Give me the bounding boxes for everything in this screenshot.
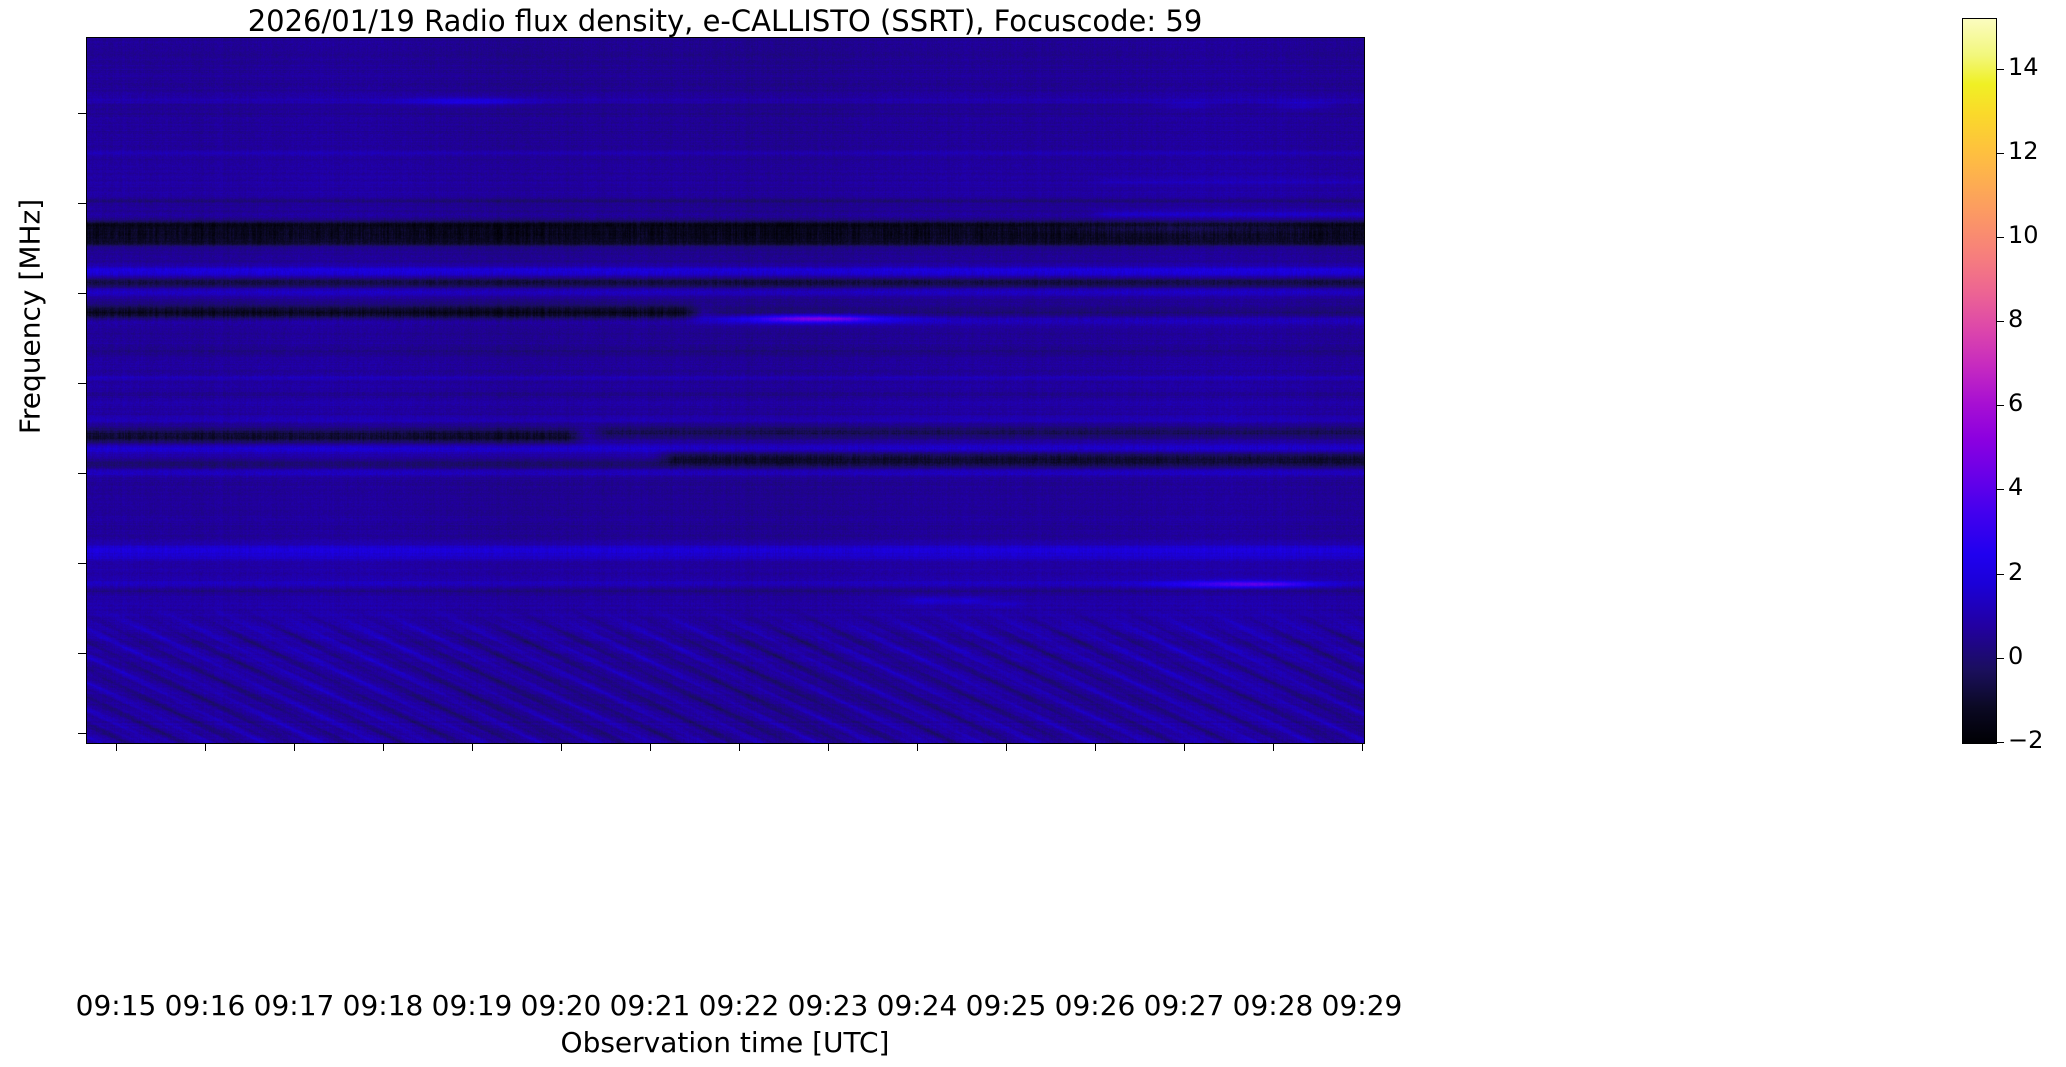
colorbar-tick-label: 6 xyxy=(2008,389,2023,417)
colorbar-tick-label: 14 xyxy=(2008,53,2039,81)
colorbar-tick-label: 4 xyxy=(2008,473,2023,501)
page-title: 2026/01/19 Radio flux density, e-CALLIST… xyxy=(86,4,1364,38)
x-tick-mark xyxy=(650,743,651,751)
x-tick-mark xyxy=(383,743,384,751)
colorbar-tick-mark xyxy=(1996,489,2004,490)
colorbar-tick-mark xyxy=(1996,321,2004,322)
colorbar-tick-label: −2 xyxy=(2008,726,2043,754)
spectrogram-axes[interactable] xyxy=(86,37,1365,744)
y-tick-mark xyxy=(78,653,86,654)
colorbar-tick-mark xyxy=(1996,153,2004,154)
colorbar-tick-mark xyxy=(1996,658,2004,659)
x-tick-mark xyxy=(739,743,740,751)
x-tick-mark xyxy=(472,743,473,751)
colorbar-tick-label: 12 xyxy=(2008,137,2039,165)
x-tick-mark xyxy=(1006,743,1007,751)
colorbar-tick-mark xyxy=(1996,742,2004,743)
x-tick-label: 09:29 xyxy=(1292,989,1432,1022)
colorbar-tick-label: 8 xyxy=(2008,305,2023,333)
colorbar-tick-label: 10 xyxy=(2008,221,2039,249)
y-tick-mark xyxy=(78,203,86,204)
x-tick-mark xyxy=(294,743,295,751)
x-tick-mark xyxy=(561,743,562,751)
spectrogram-image xyxy=(87,38,1364,743)
x-tick-mark xyxy=(828,743,829,751)
x-tick-mark xyxy=(1362,743,1363,751)
x-tick-mark xyxy=(1273,743,1274,751)
y-tick-mark xyxy=(78,733,86,734)
x-tick-mark xyxy=(1184,743,1185,751)
figure-canvas: 2026/01/19 Radio flux density, e-CALLIST… xyxy=(0,0,2066,1067)
y-tick-mark xyxy=(78,473,86,474)
y-tick-mark xyxy=(78,563,86,564)
y-tick-mark xyxy=(78,293,86,294)
colorbar-gradient xyxy=(1962,18,1997,744)
x-tick-mark xyxy=(116,743,117,751)
y-axis-label: Frequency [MHz] xyxy=(14,167,47,467)
colorbar-tick-label: 0 xyxy=(2008,642,2023,670)
colorbar-tick-mark xyxy=(1996,574,2004,575)
colorbar-tick-mark xyxy=(1996,69,2004,70)
x-tick-mark xyxy=(1095,743,1096,751)
colorbar-tick-label: 2 xyxy=(2008,558,2023,586)
x-axis-label: Observation time [UTC] xyxy=(86,1026,1364,1059)
y-tick-mark xyxy=(78,383,86,384)
y-tick-mark xyxy=(78,113,86,114)
x-tick-mark xyxy=(205,743,206,751)
colorbar-tick-mark xyxy=(1996,405,2004,406)
x-tick-mark xyxy=(917,743,918,751)
colorbar-tick-mark xyxy=(1996,237,2004,238)
